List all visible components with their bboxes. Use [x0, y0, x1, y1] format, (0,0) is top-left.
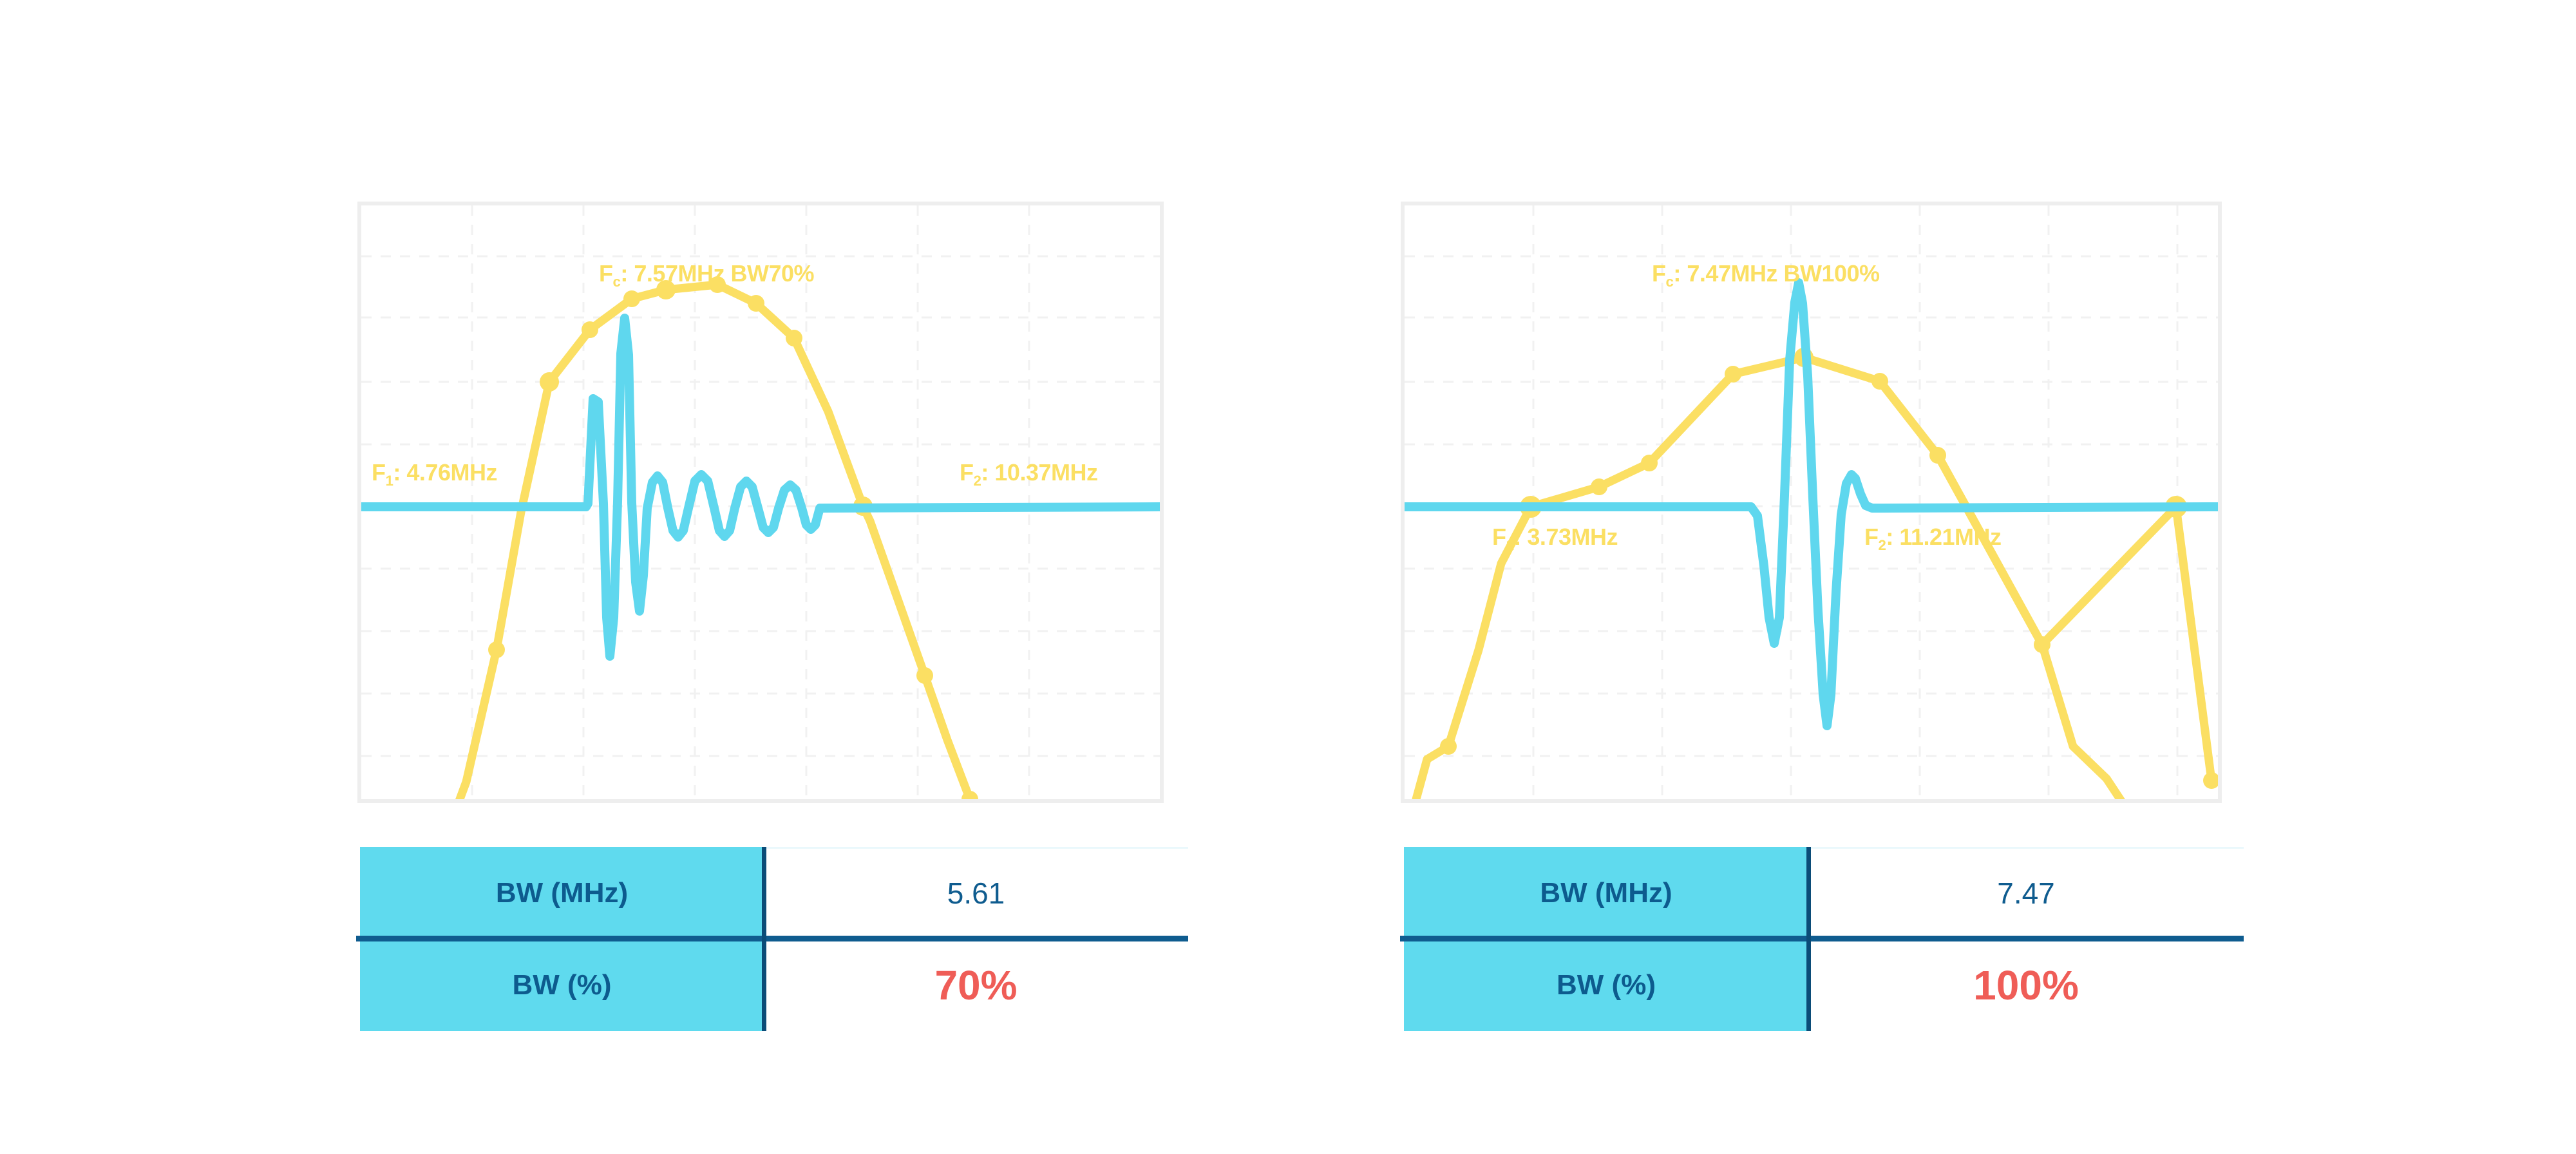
annot-prefix: F	[1652, 260, 1666, 287]
table-value-label: 100%	[1973, 961, 2079, 1009]
annot-prefix: F	[1864, 524, 1879, 550]
annot-text: : 7.47MHz BW100%	[1673, 260, 1879, 287]
table-header-bw-mhz: BW (MHz)	[1404, 847, 1808, 939]
annot-prefix: F	[1492, 524, 1506, 550]
annot-subscript: 2	[1879, 537, 1886, 553]
table-header-bw-percent: BW (%)	[1404, 939, 1808, 1031]
table-value-bw-percent: 100%	[1808, 939, 2244, 1031]
table-row: BW (MHz) 7.47	[1404, 847, 2244, 939]
annot-text: : 11.21MHz	[1886, 524, 2001, 550]
annot-subscript: 1	[1506, 537, 1514, 553]
waveform-pulse-right	[1405, 283, 2218, 726]
annotation-center-frequency-right: Fc: 7.47MHz BW100%	[1652, 260, 1880, 290]
table-top-rule	[1808, 847, 2244, 849]
spectrum-plot-right	[1401, 202, 2222, 803]
table-value-label: 7.47	[1997, 876, 2055, 911]
bandwidth-table-right: BW (MHz) 7.47 BW (%) 100%	[1404, 847, 2244, 1031]
table-header-label: BW (%)	[1557, 969, 1656, 1001]
table-header-label: BW (MHz)	[1540, 877, 1672, 909]
table-column-divider	[1806, 847, 1811, 1031]
annotation-f1-right: F1: 3.73MHz	[1492, 524, 1618, 554]
spectrum-plot-right-svg	[1405, 205, 2218, 799]
annot-subscript: c	[1666, 274, 1674, 290]
annotation-f2-right: F2: 11.21MHz	[1864, 524, 2002, 554]
annot-text: : 3.73MHz	[1513, 524, 1618, 550]
table-value-bw-mhz: 7.47	[1808, 847, 2244, 939]
panel-right: Fc: 7.47MHz BW100% F1: 3.73MHz F2: 11.21…	[0, 0, 2576, 1154]
table-row-divider	[1400, 936, 2244, 941]
table-row: BW (%) 100%	[1404, 939, 2244, 1031]
